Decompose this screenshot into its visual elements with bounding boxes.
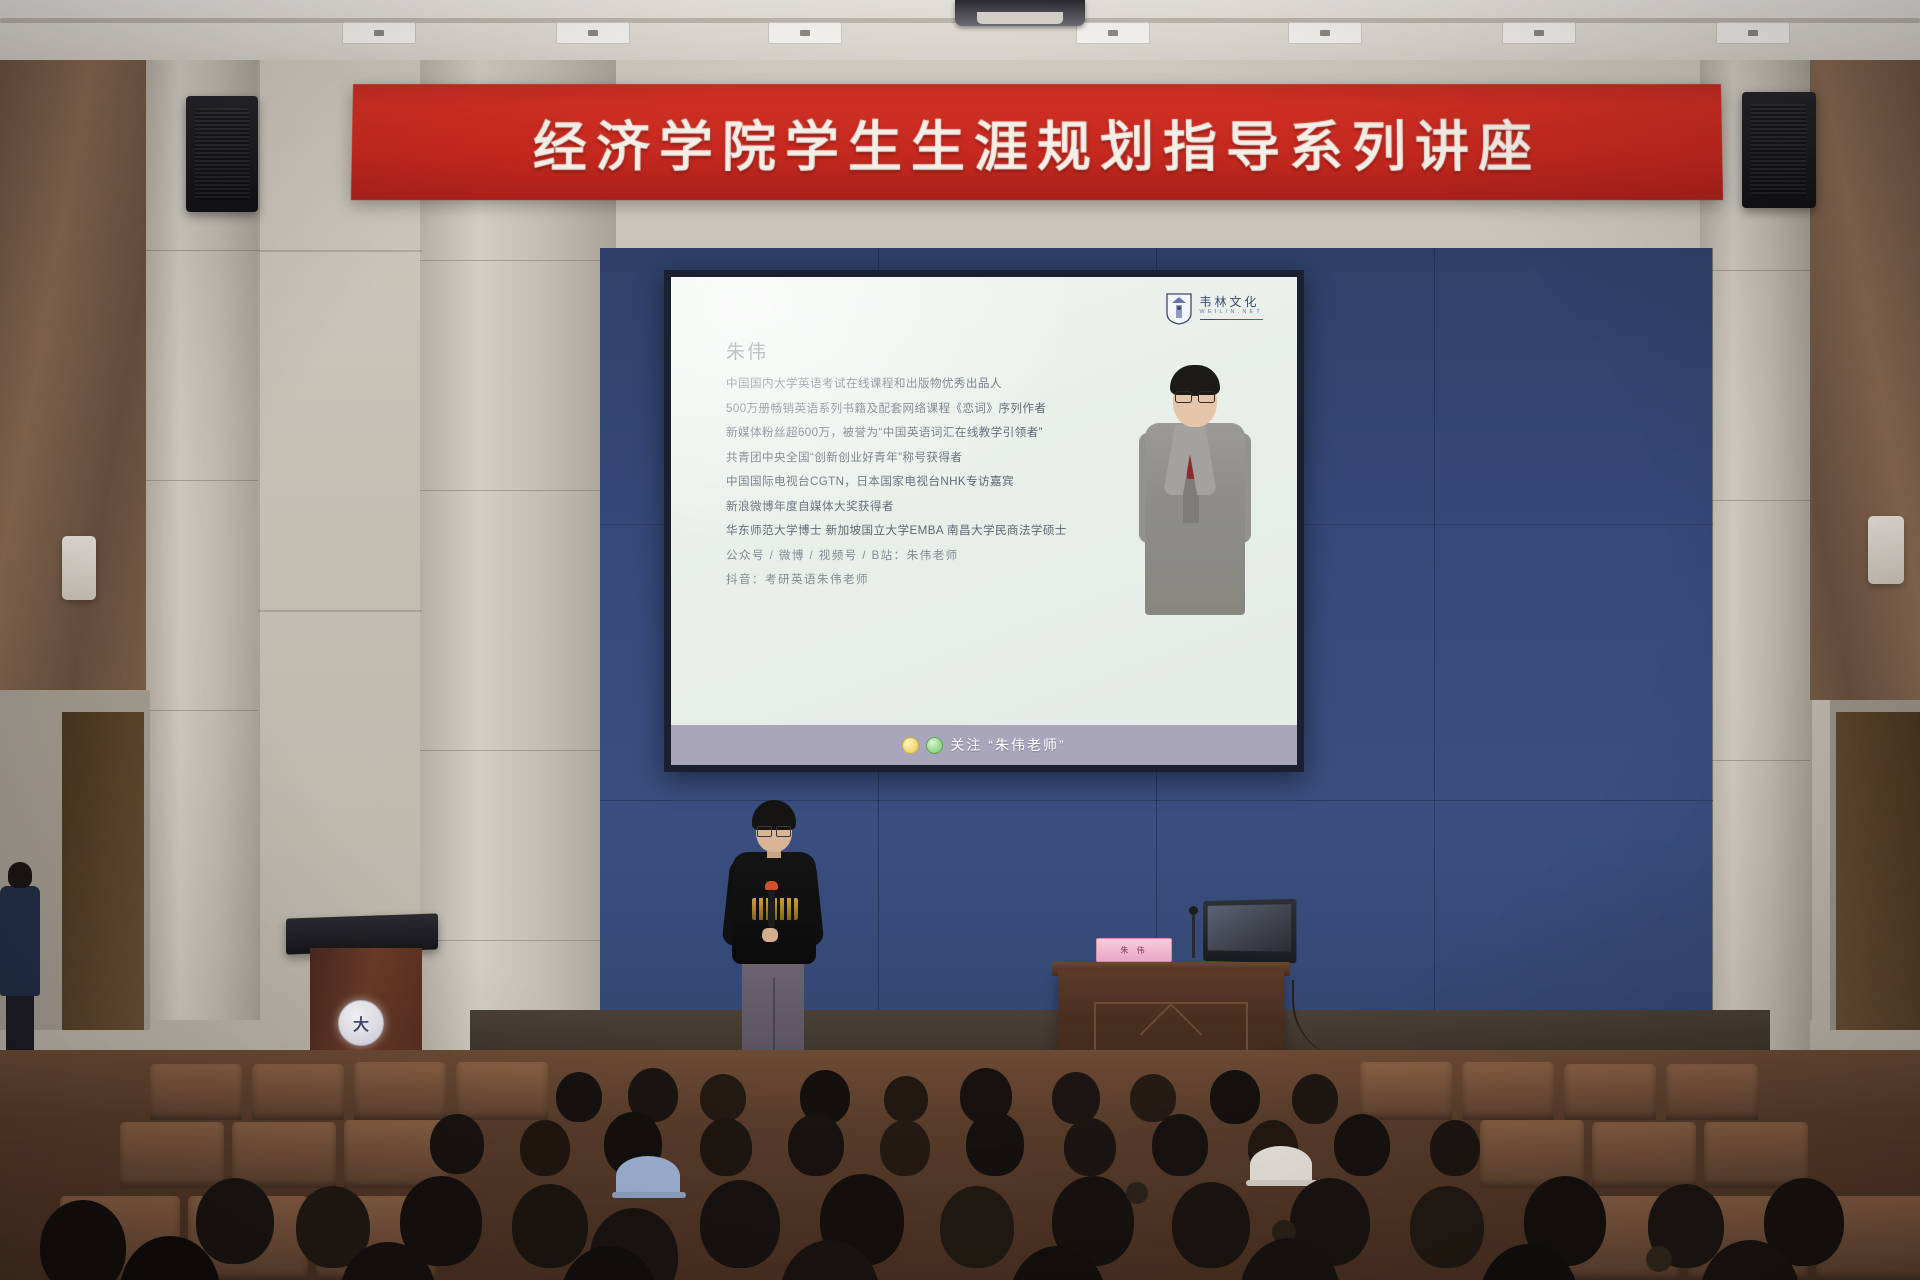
wall-loudspeaker-icon (62, 536, 96, 600)
banner-text: 经济学院学生生涯规划指导系列讲座 (351, 84, 1723, 200)
ceiling-light (1076, 22, 1150, 44)
audience-area (0, 1050, 1920, 1280)
logo-rule (1200, 319, 1263, 321)
wood-panel-left (0, 60, 148, 700)
ceiling-light (1716, 22, 1790, 44)
hair-bun (1126, 1182, 1148, 1204)
shield-crest-icon (1165, 291, 1193, 325)
university-crest-icon: 大 (338, 1000, 384, 1046)
weibo-round-icon (902, 737, 919, 754)
ceiling-light (1502, 22, 1576, 44)
eyeglasses-icon (757, 826, 791, 835)
slide-line: 共青团中央全国“创新创业好青年”称号获得者 (726, 449, 1156, 465)
baseball-cap (616, 1156, 680, 1196)
wechat-round-icon (926, 737, 943, 754)
microphone-icon (1192, 912, 1195, 958)
hoodie-logo (752, 898, 798, 920)
slide-surface: 韦林文化 WEILIN.NET 朱伟 中国国内大学英语考试在线课程和出版物优秀出… (671, 277, 1297, 765)
pillar-right-inner (1700, 60, 1810, 1060)
ceiling-projector-icon (955, 0, 1085, 26)
slide-logo: 韦林文化 WEILIN.NET (1165, 291, 1263, 325)
pillar-left-inner (420, 60, 616, 1060)
podium-emblem-text: 大 (353, 1011, 369, 1035)
nameplate: 朱 伟 (1096, 938, 1172, 962)
nameplate-text: 朱 伟 (1120, 945, 1147, 956)
projection-screen: 韦林文化 WEILIN.NET 朱伟 中国国内大学英语考试在线课程和出版物优秀出… (664, 270, 1304, 772)
slide-footer: 关注 “朱伟老师” (671, 725, 1297, 765)
loudspeaker-icon (186, 96, 258, 212)
door-left[interactable] (62, 712, 144, 1030)
door-lintel-left (0, 690, 150, 706)
lecture-hall-photo: 韦林文化 WEILIN.NET 朱伟 中国国内大学英语考试在线课程和出版物优秀出… (0, 0, 1920, 1280)
slide-line: 中国国际电视台CGTN，日本国家电视台NHK专访嘉宾 (726, 473, 1156, 489)
wall-seam (258, 60, 260, 1020)
laptop-icon (1203, 899, 1296, 963)
handheld-microphone-icon (768, 888, 775, 928)
slide-title: 朱伟 (726, 337, 768, 364)
speaker-portrait (1139, 355, 1251, 615)
portrait-glasses-icon (1175, 391, 1215, 401)
ceiling-light (1288, 22, 1362, 44)
event-banner: 经济学院学生生涯规划指导系列讲座 (351, 84, 1723, 200)
wall-loudspeaker-icon (1868, 516, 1904, 584)
slide-contact-line: 公众号 / 微博 / 视频号 / B站：朱伟老师 (726, 547, 1156, 563)
ceiling-light (556, 22, 630, 44)
wall-seam (258, 610, 422, 612)
slide-contact-line: 抖音：考研英语朱伟老师 (726, 571, 1156, 587)
logo-english-name: WEILIN.NET (1200, 310, 1263, 316)
wall-seam (258, 250, 422, 252)
slide-footer-label: 关注 “朱伟老师” (950, 735, 1065, 755)
logo-chinese-name: 韦林文化 (1200, 296, 1263, 309)
ceiling-light (342, 22, 416, 44)
ceiling-light (768, 22, 842, 44)
slide-body: 中国国内大学英语考试在线课程和出版物优秀出品人 500万册畅销英语系列书籍及配套… (726, 375, 1156, 596)
baseball-cap (1250, 1146, 1312, 1184)
slide-line: 华东师范大学博士 新加坡国立大学EMBA 南昌大学民商法学硕士 (726, 522, 1156, 538)
loudspeaker-icon (1742, 92, 1816, 208)
door-right[interactable] (1836, 712, 1920, 1030)
slide-line: 新媒体粉丝超600万，被誉为“中国英语词汇在线教学引领者” (726, 424, 1156, 440)
slide-line: 新浪微博年度自媒体大奖获得者 (726, 498, 1156, 514)
hair-bun (1646, 1246, 1672, 1272)
slide-line: 中国国内大学英语考试在线课程和出版物优秀出品人 (726, 375, 1156, 391)
slide-line: 500万册畅销英语系列书籍及配套网络课程《恋词》序列作者 (726, 400, 1156, 416)
